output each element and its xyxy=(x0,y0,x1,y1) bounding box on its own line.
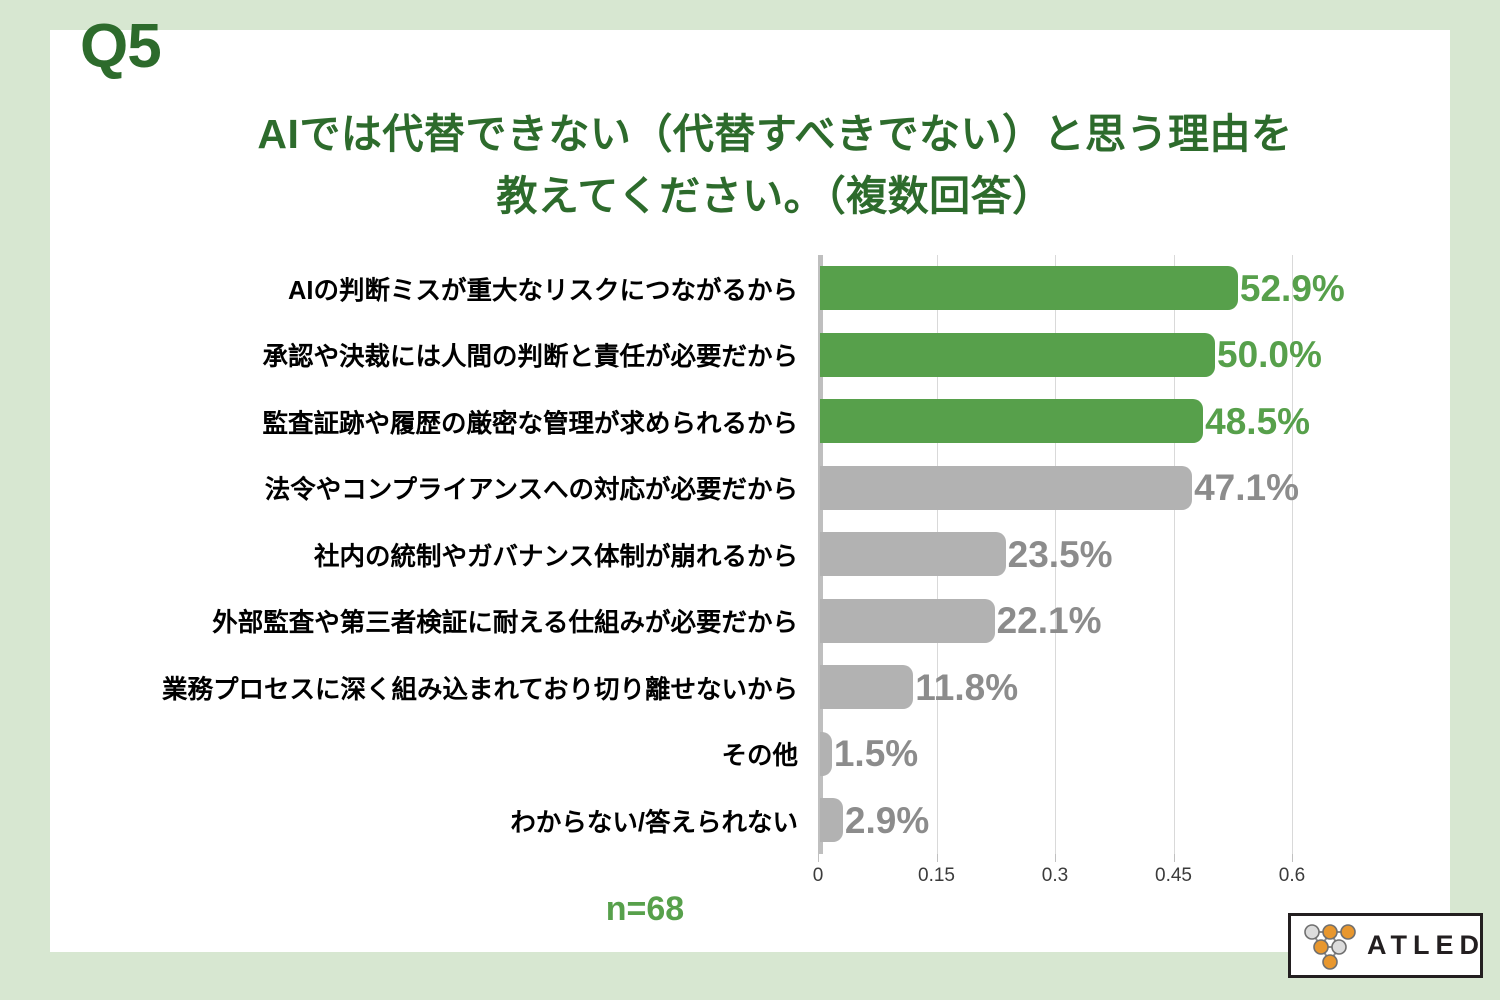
category-label: 法令やコンプライアンスへの対応が必要だから xyxy=(98,455,798,522)
bar xyxy=(820,532,1006,576)
bar-and-value: 50.0% xyxy=(820,322,1322,389)
category-label: その他 xyxy=(98,721,798,788)
bar-and-value: 1.5% xyxy=(820,721,918,788)
bar-and-value: 11.8% xyxy=(820,654,1018,721)
atled-node-graph-icon xyxy=(1299,920,1361,972)
category-label: 業務プロセスに深く組み込まれており切り離せないから xyxy=(98,654,798,721)
bar xyxy=(820,399,1203,443)
category-label: わからない/答えられない xyxy=(98,787,798,854)
title-line-1: AIでは代替できない（代替すべきでない）と思う理由を xyxy=(150,104,1400,166)
x-tick-mark xyxy=(1292,854,1293,862)
bar-and-value: 52.9% xyxy=(820,255,1345,322)
x-tick-label: 0.6 xyxy=(1279,865,1305,887)
bar-and-value: 48.5% xyxy=(820,388,1310,455)
bar-and-value: 47.1% xyxy=(820,455,1299,522)
bar-value-label: 2.9% xyxy=(845,802,929,839)
x-tick-mark xyxy=(818,854,819,862)
category-label: 監査証跡や履歴の厳密な管理が求められるから xyxy=(98,388,798,455)
sample-size-label: n=68 xyxy=(500,890,790,929)
x-axis: 00.150.30.450.6 xyxy=(0,854,1500,894)
bar-row: 社内の統制やガバナンス体制が崩れるから23.5% xyxy=(0,521,1500,588)
x-tick-mark xyxy=(1055,854,1056,862)
bar-value-label: 52.9% xyxy=(1240,270,1345,307)
x-tick-label: 0.15 xyxy=(918,865,955,887)
bar-value-label: 47.1% xyxy=(1194,469,1299,506)
bar xyxy=(820,599,995,643)
bar-and-value: 23.5% xyxy=(820,521,1113,588)
bar-row: 法令やコンプライアンスへの対応が必要だから47.1% xyxy=(0,455,1500,522)
slide-root: Q5 AIでは代替できない（代替すべきでない）と思う理由を 教えてください。（複… xyxy=(0,0,1500,1000)
atled-logo: ATLED xyxy=(1288,913,1483,978)
x-tick-label: 0 xyxy=(813,865,824,887)
x-tick-mark xyxy=(937,854,938,862)
x-tick-label: 0.3 xyxy=(1042,865,1068,887)
category-label: AIの判断ミスが重大なリスクにつながるから xyxy=(98,255,798,322)
bar-and-value: 22.1% xyxy=(820,588,1102,655)
bar xyxy=(820,466,1192,510)
category-label: 承認や決裁には人間の判断と責任が必要だから xyxy=(98,322,798,389)
bar-value-label: 11.8% xyxy=(915,669,1018,706)
bar-value-label: 1.5% xyxy=(834,735,918,772)
category-label: 外部監査や第三者検証に耐える仕組みが必要だから xyxy=(98,588,798,655)
x-tick-mark xyxy=(1174,854,1175,862)
bar-value-label: 23.5% xyxy=(1008,536,1113,573)
bar-value-label: 22.1% xyxy=(997,602,1102,639)
bar xyxy=(820,266,1238,310)
bar-row: わからない/答えられない2.9% xyxy=(0,787,1500,854)
bar-row: 承認や決裁には人間の判断と責任が必要だから50.0% xyxy=(0,322,1500,389)
bar-value-label: 48.5% xyxy=(1205,403,1310,440)
bar-chart: AIの判断ミスが重大なリスクにつながるから52.9%承認や決裁には人間の判断と責… xyxy=(0,255,1500,895)
bar xyxy=(820,665,913,709)
category-label: 社内の統制やガバナンス体制が崩れるから xyxy=(98,521,798,588)
bar xyxy=(820,333,1215,377)
bar-value-label: 50.0% xyxy=(1217,336,1322,373)
bar-row: 外部監査や第三者検証に耐える仕組みが必要だから22.1% xyxy=(0,588,1500,655)
x-tick-label: 0.45 xyxy=(1155,865,1192,887)
bar-row: AIの判断ミスが重大なリスクにつながるから52.9% xyxy=(0,255,1500,322)
bar-row: その他1.5% xyxy=(0,721,1500,788)
bar-and-value: 2.9% xyxy=(820,787,929,854)
bar xyxy=(820,798,843,842)
page-title: AIでは代替できない（代替すべきでない）と思う理由を 教えてください。（複数回答… xyxy=(150,104,1400,227)
bar xyxy=(820,732,832,776)
atled-logo-text: ATLED xyxy=(1367,930,1485,961)
bar-row: 業務プロセスに深く組み込まれており切り離せないから11.8% xyxy=(0,654,1500,721)
title-line-2: 教えてください。（複数回答） xyxy=(150,166,1400,228)
question-number: Q5 xyxy=(80,16,161,78)
bar-row: 監査証跡や履歴の厳密な管理が求められるから48.5% xyxy=(0,388,1500,455)
